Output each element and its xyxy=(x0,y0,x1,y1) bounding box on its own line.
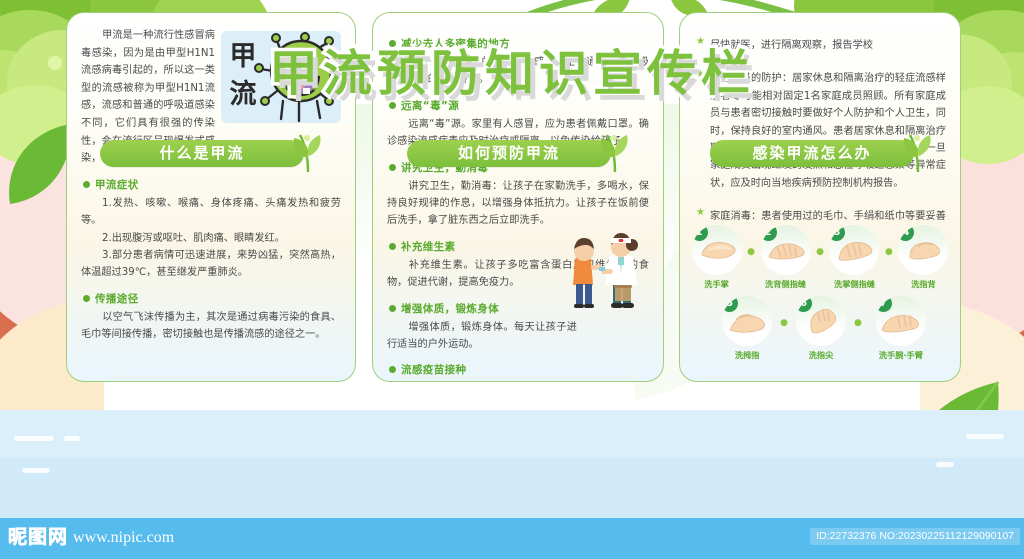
water-dash xyxy=(64,436,80,441)
bullet-dot-icon xyxy=(389,366,396,373)
water-band-deep xyxy=(0,458,1024,518)
handwash-step: 4 洗指背 xyxy=(897,225,950,290)
handwash-step-label: 洗掌侧指缝 xyxy=(828,278,881,290)
brand-name-cn: 昵图网 xyxy=(8,527,68,547)
step-arrow-icon: ● xyxy=(747,225,755,257)
leaf-decoration-icon xyxy=(291,132,325,172)
bullet-dot-icon xyxy=(83,181,90,188)
handwashing-row-2: 5 洗拇指 ● 6 xyxy=(690,296,950,361)
asset-id-tag: ID:22732376 NO:20230225112129090107 xyxy=(810,528,1020,545)
footer-bar: 昵图网 www.nipic.com ID:22732376 NO:2023022… xyxy=(0,518,1024,559)
panel-title-what-is-influenza-a: 什么是甲流 xyxy=(100,140,304,167)
step-arrow-icon: ● xyxy=(780,296,788,328)
handwash-step: 2 洗背侧指缝 xyxy=(759,225,812,290)
handwash-step: 6 洗指尖 xyxy=(792,296,850,361)
star-icon: ★ xyxy=(696,208,705,218)
panel1-symptom-line-2: 2.出现腹泻或呕吐、肌肉痛、眼睛发红。 xyxy=(81,230,341,247)
handwash-step: 3 洗掌侧指缝 xyxy=(828,225,881,290)
bullet-dot-icon xyxy=(389,243,396,250)
handwashing-row-1: 1 洗手掌 ● 2 xyxy=(690,225,950,290)
heading-text: 补充维生素 xyxy=(401,239,456,254)
step-arrow-icon: ● xyxy=(816,225,824,257)
panel1-heading-transmission: 传播途径 xyxy=(83,291,341,306)
bullet-dot-icon xyxy=(83,295,90,302)
water-dash xyxy=(14,436,54,441)
panel1-symptom-line-3: 3.部分患者病情可迅速进展，来势凶猛，突然高热，体温超过39℃，甚至继发严重肺炎… xyxy=(81,247,341,282)
panel1-symptom-line-1: 1.发热、咳嗽、喉痛、身体疼痛、头痛发热和疲劳等。 xyxy=(81,195,341,230)
heading-text: 甲流症状 xyxy=(95,177,139,192)
water-dash xyxy=(22,468,50,473)
leaf-decoration-icon xyxy=(598,132,632,172)
handwash-step-label: 洗拇指 xyxy=(718,349,776,361)
poster-title: 甲流预防知识宣传栏 xyxy=(269,34,755,105)
leaf-decoration-icon xyxy=(901,132,935,172)
handwash-step-label: 洗手掌 xyxy=(690,278,743,290)
panel2-text-exercise: 增强体质，锻炼身体。每天让孩子进行适当的户外运动。 xyxy=(387,319,577,354)
bullet-dot-icon xyxy=(389,164,396,171)
handwash-illustration: 3 xyxy=(829,225,879,275)
brand-url: www.nipic.com xyxy=(73,529,174,547)
step-arrow-icon: ● xyxy=(885,225,893,257)
handwash-illustration: 1 xyxy=(692,225,742,275)
leaf-left-small xyxy=(4,120,74,210)
panel-title-what-to-do-if-infected: 感染甲流怎么办 xyxy=(710,140,914,167)
handwash-step: 5 洗拇指 xyxy=(718,296,776,361)
poster-canvas: 甲流预防知识宣传栏 什么是甲流 如何预防甲流 感染甲流怎么办 甲 流 xyxy=(0,0,1024,559)
heading-text: 流感疫苗接种 xyxy=(401,362,466,377)
handwash-illustration: 6 xyxy=(796,296,846,346)
vaccination-illustration xyxy=(561,229,657,311)
handwash-step: 7 洗手腕·手臂 xyxy=(866,296,936,361)
panel2-text-vaccination: 流感疫苗接种。接种流感疫苗是增强对病毒免疫力的有效方法，家长自愿让孩子接种。 xyxy=(387,380,649,382)
heading-text: 增强体质，锻炼身体 xyxy=(401,301,499,316)
step-number: 1 xyxy=(692,225,708,241)
handwash-illustration: 2 xyxy=(761,225,811,275)
handwash-illustration: 7 xyxy=(876,296,926,346)
bullet-dot-icon xyxy=(389,305,396,312)
poster-title-wrap: 甲流预防知识宣传栏 xyxy=(0,34,1024,105)
handwash-step-label: 洗手腕·手臂 xyxy=(866,349,936,361)
step-arrow-icon: ● xyxy=(854,296,862,328)
handwash-step: 1 洗手掌 xyxy=(690,225,743,290)
handwash-illustration: 5 xyxy=(722,296,772,346)
water-dash xyxy=(966,434,1004,439)
panel1-heading-symptoms: 甲流症状 xyxy=(83,177,341,192)
handwash-illustration: 4 xyxy=(898,225,948,275)
heading-text: 传播途径 xyxy=(95,291,139,306)
panel2-text-hygiene: 讲究卫生，勤消毒：让孩子在家勤洗手，多喝水，保持良好规律的作息，以增强身体抵抗力… xyxy=(387,178,649,230)
panel1-transmission-line-1: 以空气飞沫传播为主，其次是通过病毒污染的食具、毛巾等间接传播，密切接触也是传播流… xyxy=(81,309,341,344)
step-number: 2 xyxy=(761,225,777,241)
handwash-step-label: 洗背侧指缝 xyxy=(759,278,812,290)
handwashing-steps: 1 洗手掌 ● 2 xyxy=(690,225,950,367)
panel2-heading-vaccination: 流感疫苗接种 xyxy=(389,362,649,377)
water-dash xyxy=(936,462,954,467)
site-brand: 昵图网 www.nipic.com xyxy=(8,527,174,547)
handwash-step-label: 洗指背 xyxy=(897,278,950,290)
panel-title-how-to-prevent: 如何预防甲流 xyxy=(407,140,611,167)
handwash-step-label: 洗指尖 xyxy=(792,349,850,361)
